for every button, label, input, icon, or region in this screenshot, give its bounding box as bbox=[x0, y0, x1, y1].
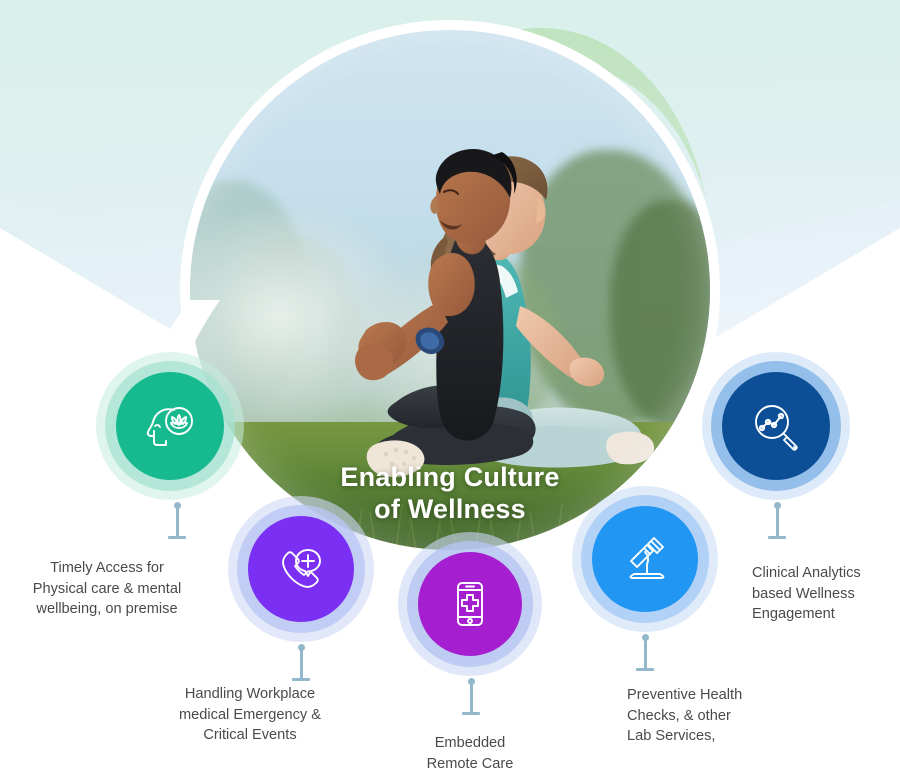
node-embedded-remote-care[interactable] bbox=[398, 532, 542, 676]
label-line: Preventive Health bbox=[627, 685, 827, 706]
connector-clinical-analytics bbox=[768, 502, 786, 540]
label-line: Critical Events bbox=[142, 725, 358, 746]
connector-mental-wellbeing bbox=[168, 502, 186, 540]
label-line: Engagement bbox=[752, 604, 900, 625]
label-line: Timely Access for bbox=[12, 558, 202, 579]
label-line: Checks, & other bbox=[627, 706, 827, 727]
label-mental-wellbeing: Timely Access for Physical care & mental… bbox=[12, 558, 202, 620]
connector-preventive-health bbox=[636, 634, 654, 672]
infographic-canvas: Enabling Culture of Wellness bbox=[0, 0, 900, 783]
mobile-medical-cross-icon bbox=[444, 578, 496, 630]
icon-circle-preventive-health[interactable] bbox=[592, 506, 698, 612]
label-line: Clinical Analytics bbox=[752, 563, 900, 584]
label-workplace-emergency: Handling Workplace medical Emergency & C… bbox=[142, 684, 358, 746]
label-embedded-remote-care: Embedded Remote Care bbox=[380, 733, 560, 774]
connector-workplace-emergency bbox=[292, 644, 310, 682]
node-clinical-analytics[interactable] bbox=[702, 352, 850, 500]
head-lotus-icon bbox=[142, 398, 198, 454]
node-mental-wellbeing[interactable] bbox=[96, 352, 244, 500]
icon-circle-mental-wellbeing[interactable] bbox=[116, 372, 224, 480]
icon-circle-embedded-remote-care[interactable] bbox=[418, 552, 522, 656]
connector-embedded-remote-care bbox=[462, 678, 480, 716]
label-line: Lab Services, bbox=[627, 726, 827, 747]
label-line: Remote Care bbox=[380, 754, 560, 775]
label-line: Physical care & mental bbox=[12, 579, 202, 600]
icon-circle-clinical-analytics[interactable] bbox=[722, 372, 830, 480]
label-line: wellbeing, on premise bbox=[12, 599, 202, 620]
icon-circle-workplace-emergency[interactable] bbox=[248, 516, 354, 622]
phone-medical-cross-icon bbox=[274, 542, 328, 596]
node-workplace-emergency[interactable] bbox=[228, 496, 374, 642]
label-preventive-health: Preventive Health Checks, & other Lab Se… bbox=[627, 685, 827, 747]
label-clinical-analytics: Clinical Analytics based Wellness Engage… bbox=[752, 563, 900, 625]
microscope-icon bbox=[617, 531, 673, 587]
label-line: Embedded bbox=[380, 733, 560, 754]
label-line: medical Emergency & bbox=[142, 705, 358, 726]
magnifier-chart-icon bbox=[748, 398, 804, 454]
node-preventive-health[interactable] bbox=[572, 486, 718, 632]
label-line: based Wellness bbox=[752, 584, 900, 605]
label-line: Handling Workplace bbox=[142, 684, 358, 705]
